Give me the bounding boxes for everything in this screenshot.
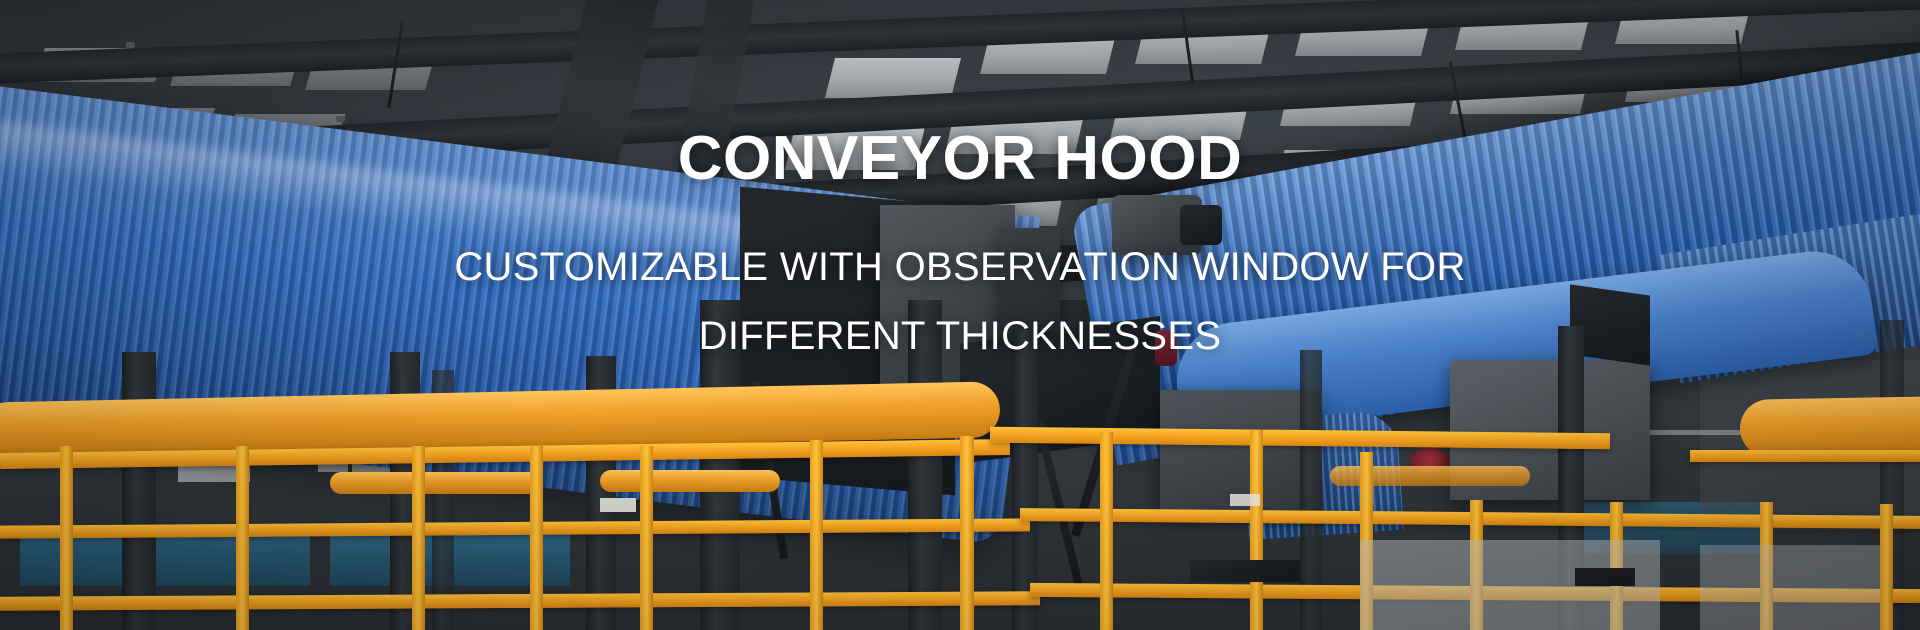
conveyor-hood-banner: CONVEYOR HOOD CUSTOMIZABLE WITH OBSERVAT… bbox=[0, 0, 1920, 630]
safety-rail-far-right bbox=[1690, 450, 1920, 462]
rail-post bbox=[1100, 432, 1113, 630]
support-column bbox=[700, 300, 740, 630]
support-column bbox=[122, 352, 156, 630]
rail-post bbox=[412, 446, 425, 630]
right-machine-housing-2 bbox=[1160, 390, 1320, 510]
floor-equipment bbox=[1575, 568, 1635, 586]
orange-pipe-small bbox=[330, 472, 540, 494]
roof-bolt bbox=[126, 42, 135, 48]
rail-post bbox=[640, 446, 653, 630]
center-drive-unit bbox=[1000, 228, 1060, 338]
floor-panel bbox=[1700, 545, 1880, 630]
rail-post bbox=[1880, 504, 1893, 630]
skylight-panel bbox=[825, 58, 961, 98]
rail-post bbox=[60, 446, 73, 630]
warning-label bbox=[600, 498, 636, 512]
support-column bbox=[908, 300, 942, 630]
floor-equipment bbox=[1190, 560, 1300, 582]
orange-conveyor-pipe bbox=[1740, 396, 1920, 458]
rail-post bbox=[960, 436, 974, 630]
warning-label bbox=[1230, 494, 1260, 506]
motor-shaft bbox=[1180, 205, 1222, 245]
orange-pipe-small bbox=[600, 470, 780, 492]
rail-post bbox=[236, 446, 249, 630]
roof-bolt bbox=[336, 116, 345, 122]
rail-post bbox=[1250, 430, 1263, 630]
rail-post bbox=[810, 440, 823, 630]
red-indicator bbox=[1155, 330, 1177, 366]
rail-post bbox=[530, 446, 543, 630]
